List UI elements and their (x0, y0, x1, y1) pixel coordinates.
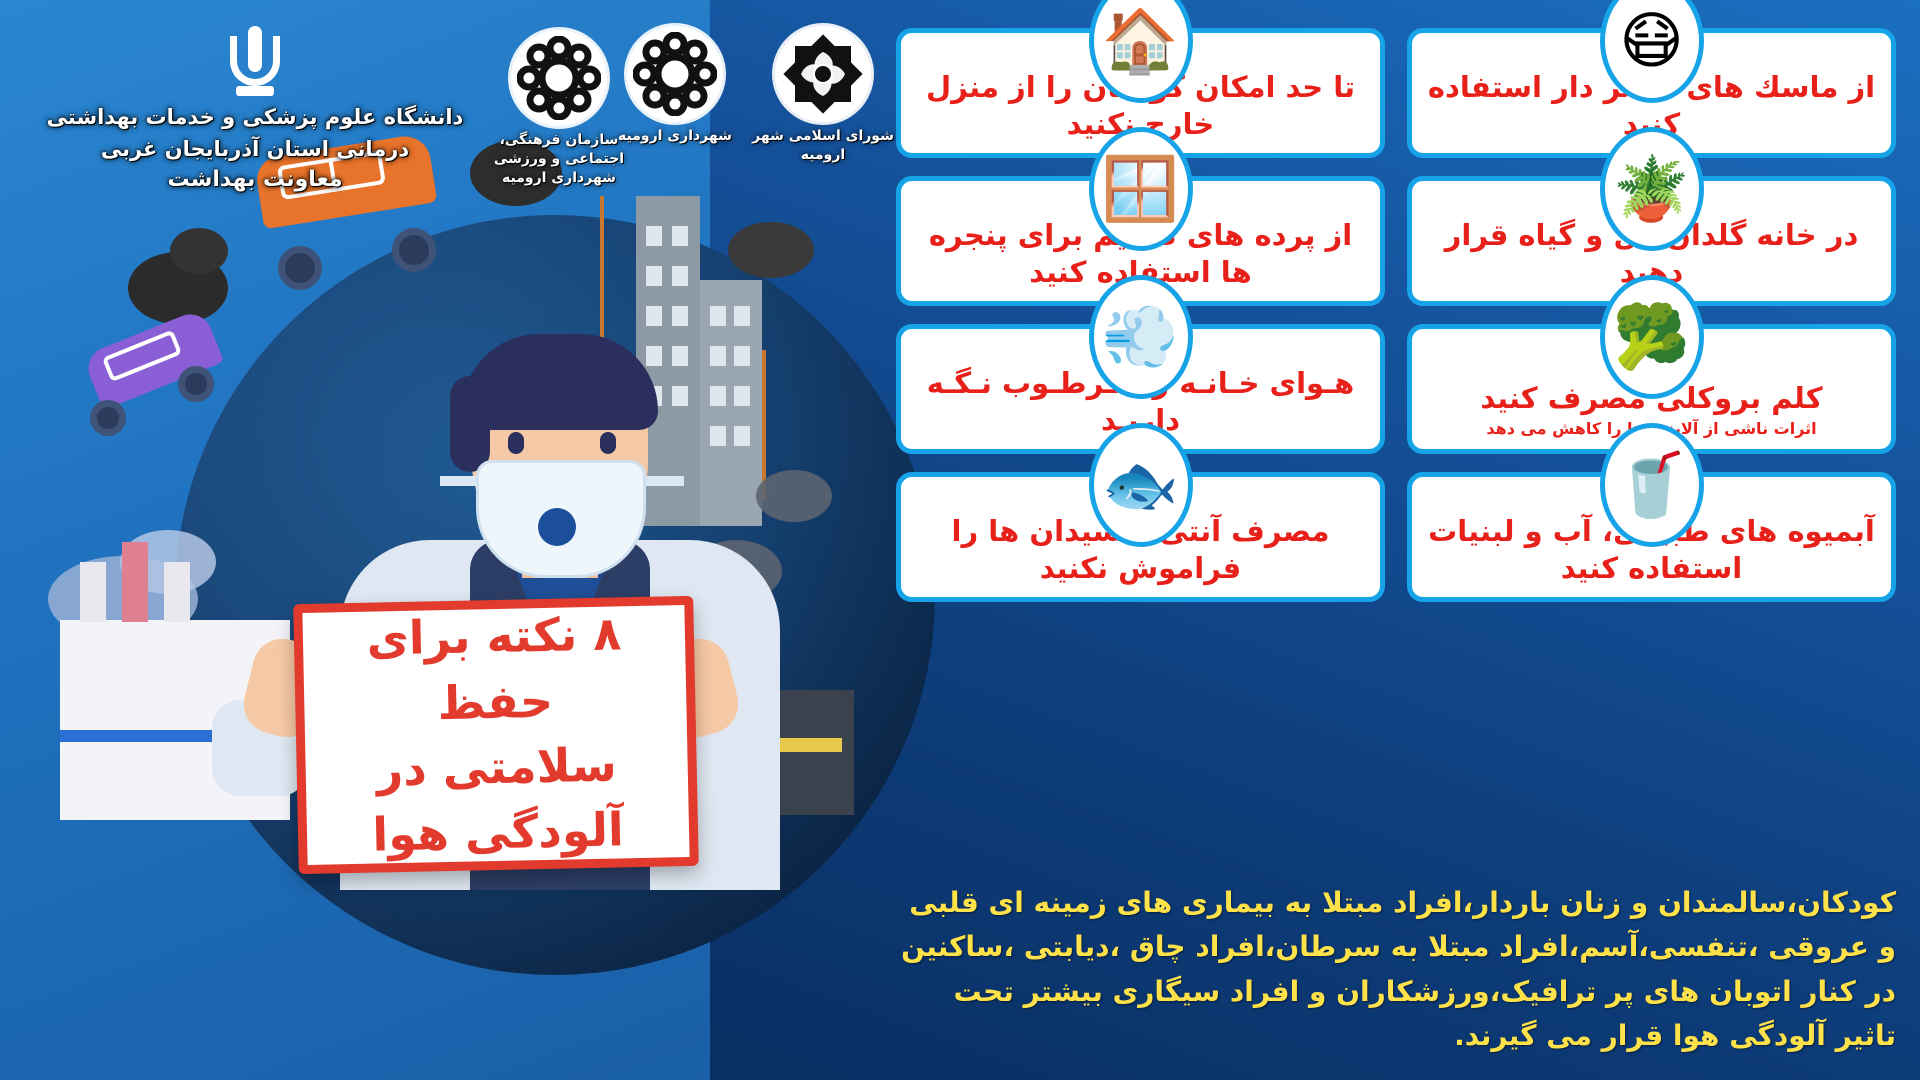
infographic-poster: ۸ نکته برای حفظ سلامتی در آلودگی هوا دان… (0, 0, 1920, 1080)
exhaust-smoke-icon (170, 228, 228, 274)
car-wheel-icon (278, 246, 322, 290)
exhaust-smoke-icon (470, 140, 562, 206)
potted-plant-icon: 🪴 (1600, 127, 1704, 251)
fruit-juice-icon: 🥤 (1600, 423, 1704, 547)
page-title: ۸ نکته برای حفظ سلامتی در آلودگی هوا (302, 592, 690, 877)
tip-card-juice-water-dairy[interactable]: 🥤 آبمیوه های طبیعی، آب و لبنیات استفاده … (1407, 472, 1896, 602)
broccoli-icon: 🥦 (1600, 275, 1704, 399)
exhaust-smoke-icon (728, 222, 814, 278)
car-wheel-icon (178, 366, 214, 402)
vulnerable-groups-note: کودکان،سالمندان و زنان باردار،افراد مبتل… (886, 881, 1896, 1058)
poster-title-sign: ۸ نکته برای حفظ سلامتی در آلودگی هوا (293, 596, 699, 874)
tip-card-antioxidants[interactable]: 🐟 مصرف آنتی اکسیدان ها را فراموش نکنید (896, 472, 1385, 602)
fish-icon: 🐟 (1089, 423, 1193, 547)
car-wheel-icon (90, 400, 126, 436)
curtain-icon: 🪟 (1089, 127, 1193, 251)
tips-grid: 😷 از ماسك های فیلتر دار استفاده کنید 🏠 ت… (896, 28, 1896, 602)
humidifier-icon: 💨 (1089, 275, 1193, 399)
car-wheel-icon (392, 228, 436, 272)
